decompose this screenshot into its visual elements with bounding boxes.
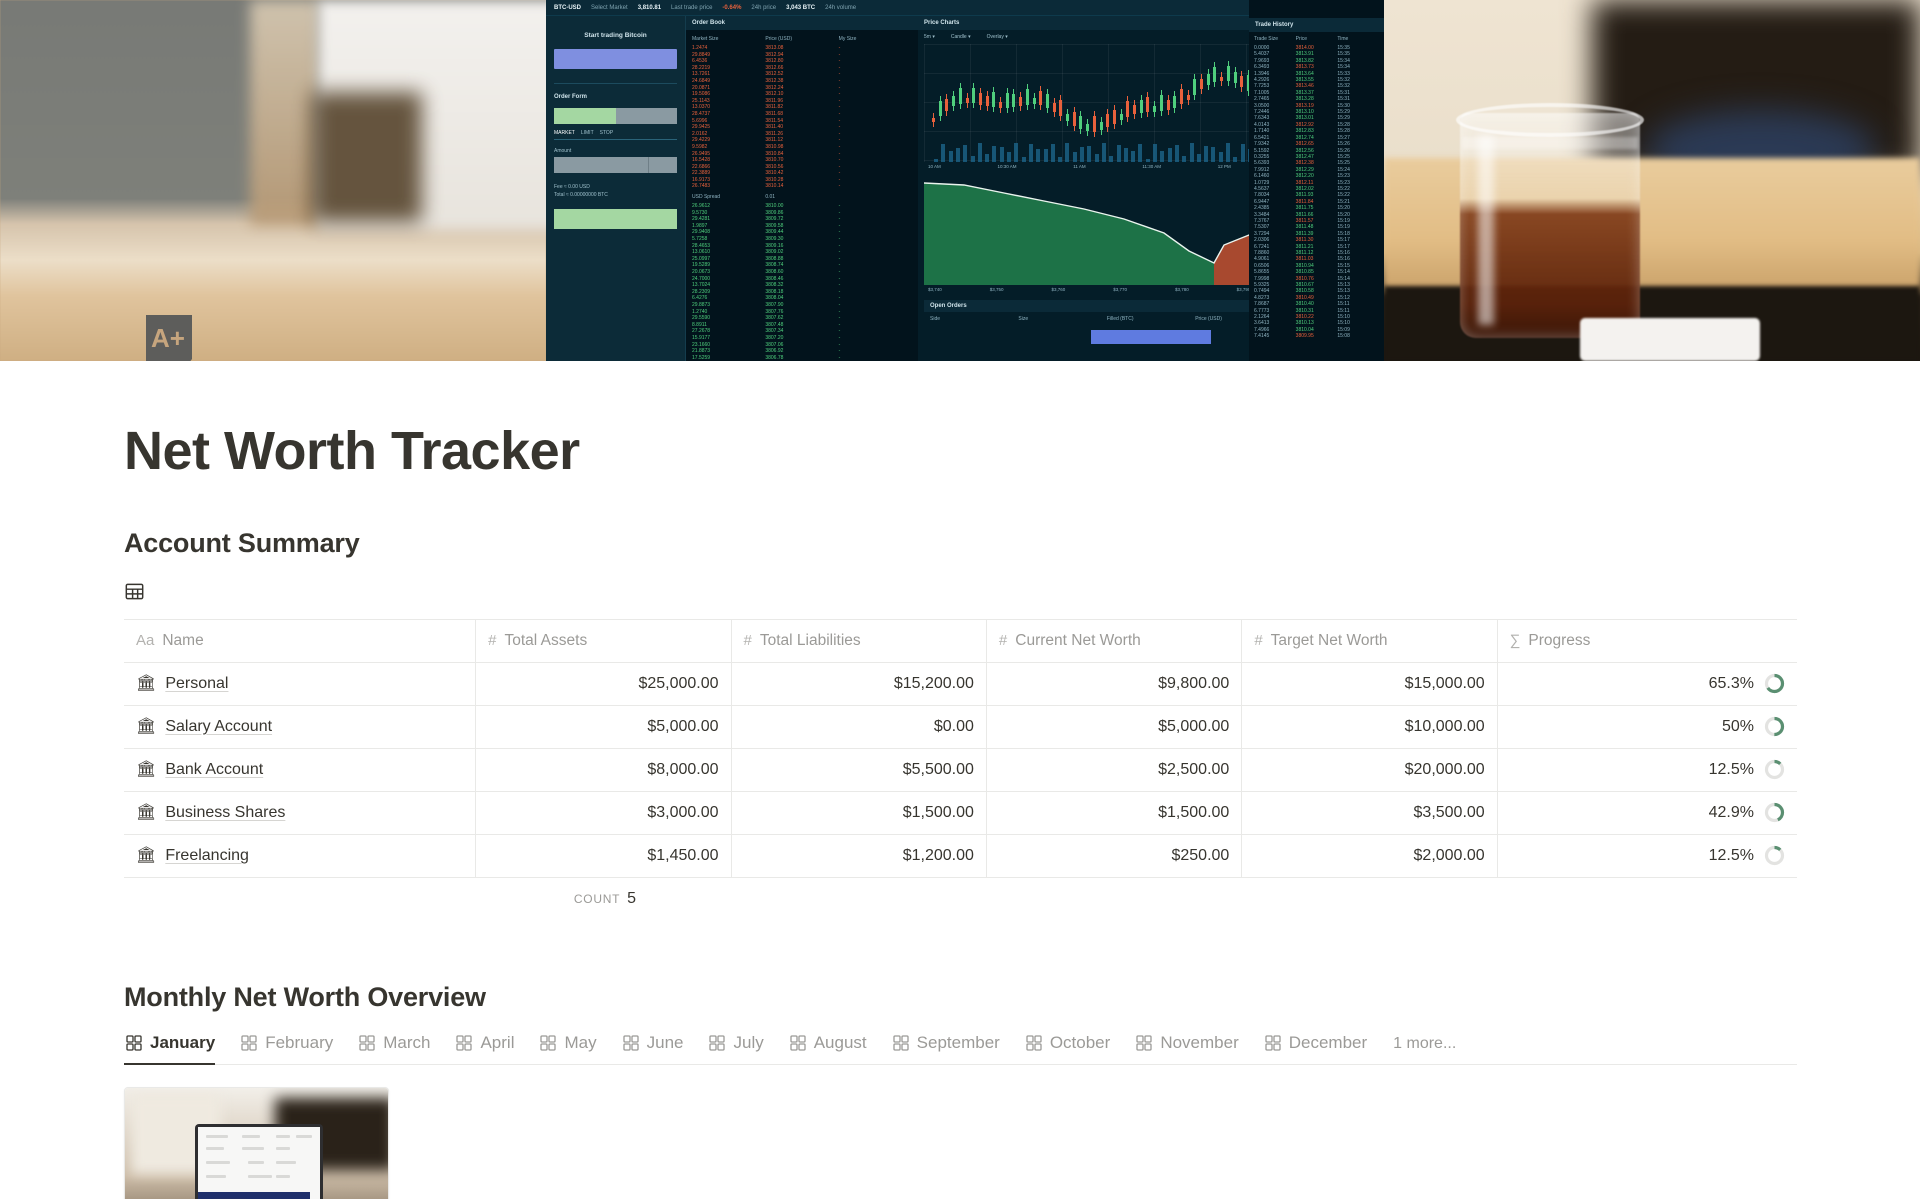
page-title: Net Worth Tracker xyxy=(124,423,1860,480)
order-book-row: 9.59823810.98- xyxy=(692,144,912,151)
table-row[interactable]: 🏛Personal$25,000.00$15,200.00$9,800.00$1… xyxy=(124,663,1797,706)
table-row[interactable]: 🏛Business Shares$3,000.00$1,500.00$1,500… xyxy=(124,792,1797,835)
cell-name[interactable]: 🏛Freelancing xyxy=(124,835,476,877)
column-type-icon: # xyxy=(744,632,752,649)
progress-label: 65.3% xyxy=(1709,675,1754,693)
column-type-icon: # xyxy=(1254,632,1262,649)
tab-label: December xyxy=(1289,1033,1367,1053)
phone-on-desk xyxy=(1580,318,1760,361)
tab-march[interactable]: March xyxy=(357,1033,443,1064)
tabs-more-button[interactable]: 1 more... xyxy=(1393,1035,1456,1064)
order-book-row: 20.06733808.60- xyxy=(692,269,912,276)
order-book-row: 13.06103809.02- xyxy=(692,249,912,256)
order-book-row: 27.26783807.34- xyxy=(692,328,912,335)
cell-target-net-worth[interactable]: $20,000.00 xyxy=(1242,749,1497,791)
order-book-row: 23.16603807.06- xyxy=(692,342,912,349)
order-book-row: 20.08713812.24- xyxy=(692,85,912,92)
order-book-row: 21.88733806.92- xyxy=(692,348,912,355)
order-book-row: 5.69963811.54- xyxy=(692,118,912,125)
order-book-row: 15.91773807.20- xyxy=(692,335,912,342)
order-book-row: 1.24743813.08- xyxy=(692,45,912,52)
order-book-row: 1.27403807.76- xyxy=(692,309,912,316)
tab-november[interactable]: November xyxy=(1134,1033,1251,1064)
table-header-target-net-worth[interactable]: #Target Net Worth xyxy=(1242,620,1497,662)
order-book-row: 22.38893810.42- xyxy=(692,170,912,177)
order-book-row: 28.47373811.68- xyxy=(692,111,912,118)
terminal-amount-label: Amount xyxy=(554,148,677,154)
divider xyxy=(554,83,677,84)
monthly-overview-heading: Monthly Net Worth Overview xyxy=(124,982,1860,1013)
svg-text:A+: A+ xyxy=(151,323,185,353)
order-book-row: 16.91733810.28- xyxy=(692,177,912,184)
order-book-row: 9.57303809.86- xyxy=(692,210,912,217)
column-type-icon: # xyxy=(999,632,1007,649)
progress-ring xyxy=(1764,716,1785,737)
bank-icon: 🏛 xyxy=(136,805,156,821)
order-book-row: 29.94253811.40- xyxy=(692,124,912,131)
order-book-row: 28.23093808.18- xyxy=(692,289,912,296)
cell-total-liabilities[interactable]: $1,200.00 xyxy=(732,835,987,877)
terminal-change-pct: -0.64% xyxy=(722,5,741,11)
page-a-plus-icon[interactable]: A+ xyxy=(140,313,212,361)
progress-ring xyxy=(1764,802,1785,823)
bank-icon: 🏛 xyxy=(136,676,156,692)
gallery-view-icon xyxy=(1265,1035,1281,1051)
tab-label: June xyxy=(647,1033,684,1053)
gallery-view-icon xyxy=(709,1035,725,1051)
trade-history-row: 7.41453809.9515:08 xyxy=(1249,333,1384,339)
order-book-row: 13.70243808.32- xyxy=(692,282,912,289)
tab-may[interactable]: May xyxy=(538,1033,609,1064)
gallery-view-icon xyxy=(126,1035,142,1051)
tab-label: November xyxy=(1160,1033,1238,1053)
tab-label: August xyxy=(814,1033,867,1053)
order-book-row: 26.94953810.84- xyxy=(692,151,912,158)
table-header-total-liabilities[interactable]: #Total Liabilities xyxy=(732,620,987,662)
cell-progress[interactable]: 12.5% xyxy=(1498,835,1797,877)
tab-label: September xyxy=(917,1033,1000,1053)
cell-progress[interactable]: 65.3% xyxy=(1498,663,1797,705)
tab-label: October xyxy=(1050,1033,1110,1053)
gallery-view-icon xyxy=(893,1035,909,1051)
order-book-row: 24.68493812.38- xyxy=(692,78,912,85)
open-orders-get-started-button xyxy=(1091,330,1211,344)
gallery-view-icon xyxy=(1136,1035,1152,1051)
progress-label: 42.9% xyxy=(1709,804,1754,822)
order-book-row: 25.09973808.88- xyxy=(692,256,912,263)
order-book-sells: 1.24743813.08-29.88493812.94-6.45363812.… xyxy=(692,45,912,190)
table-row[interactable]: 🏛Salary Account$5,000.00$0.00$5,000.00$1… xyxy=(124,706,1797,749)
tab-february[interactable]: February xyxy=(239,1033,346,1064)
gallery-view-icon xyxy=(241,1035,257,1051)
cell-target-net-worth[interactable]: $3,500.00 xyxy=(1242,792,1497,834)
cell-name[interactable]: 🏛Business Shares xyxy=(124,792,476,834)
order-book-row: 13.72613812.52- xyxy=(692,71,912,78)
order-book-row: 24.70003808.46- xyxy=(692,276,912,283)
tab-label: March xyxy=(383,1033,430,1053)
row-name-link[interactable]: Business Shares xyxy=(165,804,285,822)
tab-label: February xyxy=(265,1033,333,1053)
bank-icon: 🏛 xyxy=(136,719,156,735)
cell-current-net-worth[interactable]: $2,500.00 xyxy=(987,749,1242,791)
gallery-view-icon xyxy=(359,1035,375,1051)
terminal-order-type-tabs: MARKETLIMITSTOP xyxy=(554,130,677,140)
cell-total-assets[interactable]: $3,000.00 xyxy=(476,792,731,834)
column-label: Current Net Worth xyxy=(1015,632,1140,650)
count-value: 5 xyxy=(627,890,636,908)
order-book-buys: 26.96123810.00-9.57303809.86-29.42813809… xyxy=(692,203,912,361)
order-book-title: Order Book xyxy=(686,16,918,30)
column-label: Total Assets xyxy=(504,632,587,650)
row-name-link[interactable]: Bank Account xyxy=(165,761,263,779)
gallery-view-icon xyxy=(456,1035,472,1051)
row-name-link[interactable]: Personal xyxy=(165,675,228,693)
table-body: 🏛Personal$25,000.00$15,200.00$9,800.00$1… xyxy=(124,663,1797,877)
order-book-row: 29.42813809.72- xyxy=(692,216,912,223)
gallery-card-image xyxy=(125,1088,388,1199)
progress-label: 12.5% xyxy=(1709,847,1754,865)
column-label: Name xyxy=(162,632,203,650)
table-header-row: AaName#Total Assets#Total Liabilities#Cu… xyxy=(124,620,1797,663)
progress-ring xyxy=(1764,845,1785,866)
terminal-start-trading-title: Start trading Bitcoin xyxy=(554,32,677,39)
terminal-get-started-button xyxy=(554,49,677,69)
column-label: Target Net Worth xyxy=(1271,632,1388,650)
table-header-progress[interactable]: ∑Progress xyxy=(1498,620,1797,662)
column-type-icon: ∑ xyxy=(1510,632,1521,649)
tab-july[interactable]: July xyxy=(707,1033,776,1064)
order-book-row: 28.22193812.66- xyxy=(692,65,912,72)
order-book-columns: Market SizePrice (USD)My Size xyxy=(692,36,912,42)
terminal-select-market: Select Market xyxy=(591,5,628,11)
cell-total-assets[interactable]: $25,000.00 xyxy=(476,663,731,705)
order-book-row: 8.89113807.48- xyxy=(692,322,912,329)
terminal-place-order-button xyxy=(554,209,677,229)
order-book-row: 29.42293811.12- xyxy=(692,137,912,144)
order-book-row: 29.55903807.62- xyxy=(692,315,912,322)
table-header-total-assets[interactable]: #Total Assets xyxy=(476,620,731,662)
cell-total-liabilities[interactable]: $15,200.00 xyxy=(732,663,987,705)
progress-ring xyxy=(1764,759,1785,780)
column-label: Total Liabilities xyxy=(760,632,861,650)
page-content: Net Worth Tracker Account Summary AaName… xyxy=(0,423,1920,1199)
account-summary-heading: Account Summary xyxy=(124,528,1860,559)
order-book-row: 29.88493812.94- xyxy=(692,52,912,59)
terminal-fee-summary: Fee ≈ 0.00 USDTotal ≈ 0.00000000 BTC xyxy=(554,183,677,199)
order-book-row: 19.50863812.10- xyxy=(692,91,912,98)
order-book-row: 1.98973809.58- xyxy=(692,223,912,230)
cell-current-net-worth[interactable]: $9,800.00 xyxy=(987,663,1242,705)
order-book-row: 19.52893808.74- xyxy=(692,262,912,269)
terminal-order-form-title: Order Form xyxy=(554,94,677,100)
tab-label: April xyxy=(480,1033,514,1053)
cell-target-net-worth[interactable]: $10,000.00 xyxy=(1242,706,1497,748)
progress-label: 50% xyxy=(1722,718,1754,736)
cell-current-net-worth[interactable]: $1,500.00 xyxy=(987,792,1242,834)
gallery-view-icon xyxy=(623,1035,639,1051)
cell-total-assets[interactable]: $1,450.00 xyxy=(476,835,731,877)
gallery-view-icon xyxy=(1026,1035,1042,1051)
order-book-row: 13.03703811.82- xyxy=(692,104,912,111)
cell-target-net-worth[interactable]: $2,000.00 xyxy=(1242,835,1497,877)
page-cover-image: BTC-USD Select Market 3,810.81 Last trad… xyxy=(0,0,1920,361)
order-book-row: 17.52593806.78- xyxy=(692,355,912,361)
cell-progress[interactable]: 12.5% xyxy=(1498,749,1797,791)
terminal-volume-label: 24h volume xyxy=(825,5,856,11)
cell-current-net-worth[interactable]: $5,000.00 xyxy=(987,706,1242,748)
cell-progress[interactable]: 50% xyxy=(1498,706,1797,748)
order-book-row: 22.68663810.56- xyxy=(692,164,912,171)
coffee-jar xyxy=(1460,95,1640,345)
table-footer-count: COUNT 5 xyxy=(124,878,1797,920)
trade-history-columns: Trade SizePriceTime xyxy=(1249,36,1384,45)
order-book-row: 29.94083809.44- xyxy=(692,229,912,236)
cell-progress[interactable]: 42.9% xyxy=(1498,792,1797,834)
terminal-volume: 3,043 BTC xyxy=(786,5,815,11)
tab-april[interactable]: April xyxy=(454,1033,527,1064)
cell-current-net-worth[interactable]: $250.00 xyxy=(987,835,1242,877)
order-book-row: 26.74833810.14- xyxy=(692,183,912,190)
terminal-buy-sell-toggle xyxy=(554,108,677,124)
order-book-row: 2.01623811.26- xyxy=(692,131,912,138)
terminal-order-panel: Start trading Bitcoin Order Form MARKETL… xyxy=(546,16,686,361)
tab-august[interactable]: August xyxy=(788,1033,880,1064)
order-book-row: 29.88733807.90- xyxy=(692,302,912,309)
progress-label: 12.5% xyxy=(1709,761,1754,779)
account-summary-table: AaName#Total Assets#Total Liabilities#Cu… xyxy=(124,619,1797,878)
cell-target-net-worth[interactable]: $15,000.00 xyxy=(1242,663,1497,705)
gallery-view-icon xyxy=(540,1035,556,1051)
cell-name[interactable]: 🏛Personal xyxy=(124,663,476,705)
tab-label: January xyxy=(150,1033,215,1053)
cell-total-liabilities[interactable]: $0.00 xyxy=(732,706,987,748)
order-book-row: 16.54283810.70- xyxy=(692,157,912,164)
bank-icon: 🏛 xyxy=(136,762,156,778)
tab-october[interactable]: October xyxy=(1024,1033,1123,1064)
terminal-last-price-label: Last trade price xyxy=(671,5,712,11)
terminal-order-book: Order Book Market SizePrice (USD)My Size… xyxy=(686,16,918,361)
tab-september[interactable]: September xyxy=(891,1033,1013,1064)
gallery-card[interactable] xyxy=(124,1087,389,1199)
tab-january[interactable]: January xyxy=(124,1033,228,1064)
order-book-row: 25.11433811.96- xyxy=(692,98,912,105)
order-book-row: 6.42763808.04- xyxy=(692,295,912,302)
monthly-tabs: JanuaryFebruaryMarchAprilMayJuneJulyAugu… xyxy=(124,1033,1797,1065)
monthly-gallery xyxy=(124,1087,1860,1199)
trade-history-title: Trade History xyxy=(1249,18,1384,32)
cell-total-liabilities[interactable]: $5,500.00 xyxy=(732,749,987,791)
order-book-row: 26.96123810.00- xyxy=(692,203,912,210)
cell-total-assets[interactable]: $5,000.00 xyxy=(476,706,731,748)
terminal-pair: BTC-USD xyxy=(554,5,581,11)
column-type-icon: Aa xyxy=(136,632,154,649)
count-label: COUNT xyxy=(574,892,620,906)
terminal-change-label: 24h price xyxy=(751,5,776,11)
cell-total-liabilities[interactable]: $1,500.00 xyxy=(732,792,987,834)
cover-left-blur xyxy=(0,0,546,361)
tab-label: July xyxy=(733,1033,763,1053)
table-header-name[interactable]: AaName xyxy=(124,620,476,662)
cell-name[interactable]: 🏛Bank Account xyxy=(124,749,476,791)
row-name-link[interactable]: Freelancing xyxy=(165,847,249,865)
cover-right-desk xyxy=(1384,0,1920,361)
row-name-link[interactable]: Salary Account xyxy=(165,718,272,736)
tab-december[interactable]: December xyxy=(1263,1033,1380,1064)
table-row[interactable]: 🏛Freelancing$1,450.00$1,200.00$250.00$2,… xyxy=(124,835,1797,877)
terminal-trade-history: Trade History Trade SizePriceTime 0.0000… xyxy=(1249,0,1384,361)
bank-icon: 🏛 xyxy=(136,848,156,864)
terminal-amount-input xyxy=(554,157,677,173)
order-book-row: 28.46533809.16- xyxy=(692,243,912,250)
order-book-row: 6.45363812.80- xyxy=(692,58,912,65)
order-book-spread: USD Spread0.01 xyxy=(692,194,912,200)
tab-june[interactable]: June xyxy=(621,1033,697,1064)
table-view-icon[interactable] xyxy=(124,581,1860,603)
column-type-icon: # xyxy=(488,632,496,649)
cell-total-assets[interactable]: $8,000.00 xyxy=(476,749,731,791)
progress-ring xyxy=(1764,673,1785,694)
terminal-last-price: 3,810.81 xyxy=(638,5,661,11)
table-row[interactable]: 🏛Bank Account$8,000.00$5,500.00$2,500.00… xyxy=(124,749,1797,792)
gallery-view-icon xyxy=(790,1035,806,1051)
tab-label: May xyxy=(564,1033,596,1053)
order-book-row: 5.72583809.30- xyxy=(692,236,912,243)
column-label: Progress xyxy=(1528,632,1590,650)
cell-name[interactable]: 🏛Salary Account xyxy=(124,706,476,748)
table-header-current-net-worth[interactable]: #Current Net Worth xyxy=(987,620,1242,662)
